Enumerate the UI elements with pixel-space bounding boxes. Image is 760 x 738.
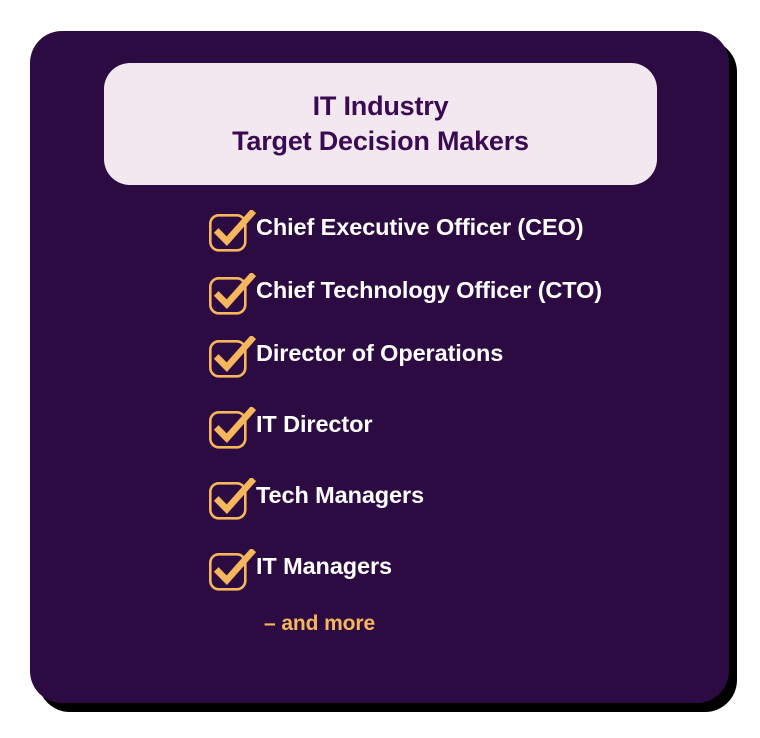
list-item-label: Tech Managers bbox=[256, 477, 686, 510]
list-item[interactable]: IT Director bbox=[206, 406, 686, 451]
list-item[interactable]: Tech Managers bbox=[206, 477, 686, 522]
list-item[interactable]: Chief Technology Officer (CTO) bbox=[206, 272, 686, 317]
checkbox-checked-icon[interactable] bbox=[206, 210, 256, 254]
list-item[interactable]: IT Managers bbox=[206, 548, 686, 593]
checkbox-checked-icon[interactable] bbox=[206, 407, 256, 451]
poster-canvas: IT Industry Target Decision Makers Chief… bbox=[0, 0, 760, 738]
list-item[interactable]: Chief Executive Officer (CEO) bbox=[206, 209, 686, 254]
checkbox-checked-icon[interactable] bbox=[206, 336, 256, 380]
list-item-label: IT Managers bbox=[256, 548, 686, 581]
it-industry-card: IT Industry Target Decision Makers Chief… bbox=[30, 31, 729, 703]
card-header-pill: IT Industry Target Decision Makers bbox=[104, 63, 657, 185]
checkbox-checked-icon[interactable] bbox=[206, 549, 256, 593]
checkbox-checked-icon[interactable] bbox=[206, 273, 256, 317]
decision-makers-list: Chief Executive Officer (CEO) Chief Tech… bbox=[206, 209, 686, 637]
page-title-line-2: Target Decision Makers bbox=[232, 124, 529, 159]
and-more-note: – and more bbox=[264, 611, 686, 637]
list-item-label: Chief Technology Officer (CTO) bbox=[256, 272, 686, 305]
list-item[interactable]: Director of Operations bbox=[206, 335, 686, 380]
page-title-line-1: IT Industry bbox=[313, 89, 449, 124]
list-item-label: Chief Executive Officer (CEO) bbox=[256, 209, 686, 242]
checkbox-checked-icon[interactable] bbox=[206, 478, 256, 522]
list-item-label: IT Director bbox=[256, 406, 686, 439]
list-item-label: Director of Operations bbox=[256, 335, 686, 368]
